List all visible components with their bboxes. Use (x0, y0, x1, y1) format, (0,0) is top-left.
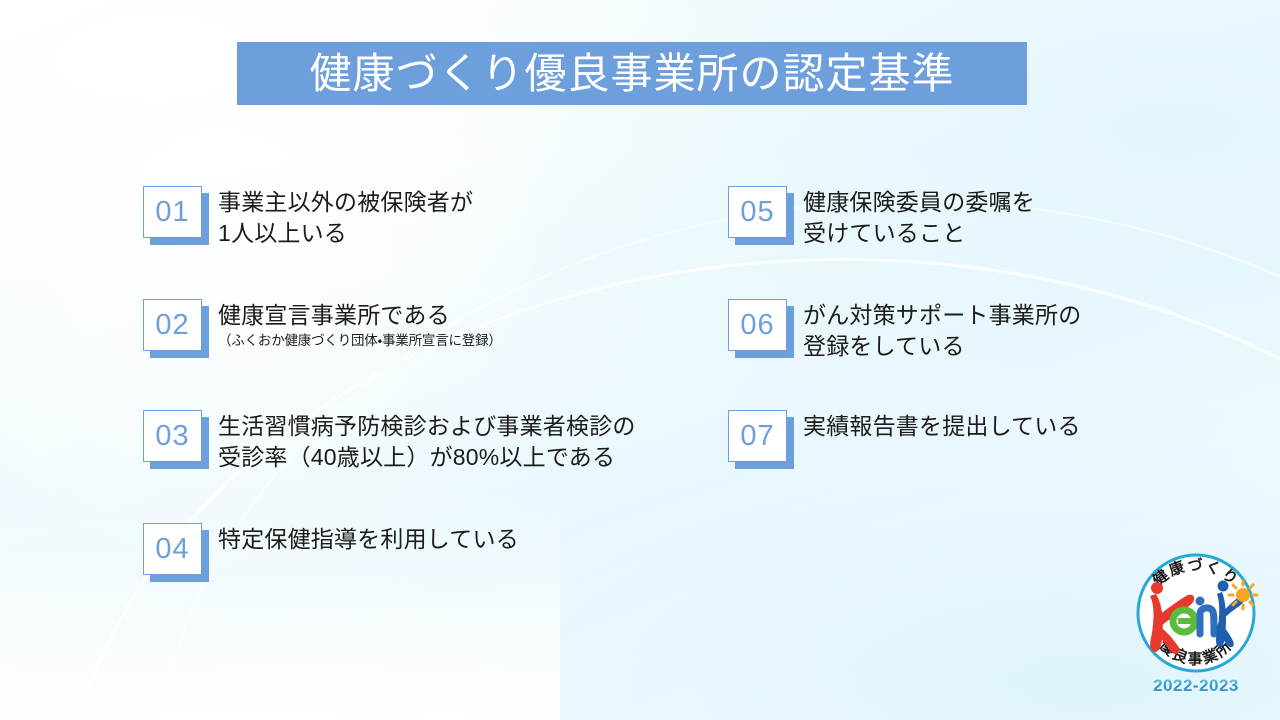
criteria-badge-07: 07 (728, 410, 787, 462)
criteria-item-04: 04 特定保健指導を利用している (143, 523, 519, 575)
logo-letter-n-dot (1196, 597, 1205, 606)
badge-number: 02 (155, 311, 189, 340)
logo-sun-icon (1229, 581, 1257, 609)
criteria-badge-03: 03 (143, 410, 202, 462)
slide-canvas: 健康づくり優良事業所の認定基準 01 事業主以外の被保険者が 1人以上いる (0, 0, 1280, 720)
criteria-body: 生活習慣病予防検診および事業者検診の 受診率（40歳以上）が80%以上である (218, 410, 636, 473)
criteria-text: 健康保険委員の委嘱を 受けていること (803, 187, 1035, 249)
badge-box: 07 (728, 410, 787, 462)
badge-number: 05 (740, 198, 774, 227)
criteria-item-07: 07 実績報告書を提出している (728, 410, 1081, 462)
criteria-badge-04: 04 (143, 523, 202, 575)
badge-number: 03 (155, 422, 189, 451)
criteria-item-05: 05 健康保険委員の委嘱を 受けていること (728, 186, 1035, 249)
logo-emblem-icon: 健康づくり 優良事業所 (1122, 548, 1270, 678)
criteria-item-03: 03 生活習慣病予防検診および事業者検診の 受診率（40歳以上）が80%以上であ… (143, 410, 636, 473)
badge-box: 02 (143, 299, 202, 351)
criteria-body: 健康宣言事業所である （ふくおか健康づくり団体・事業所宣言に登録） (218, 299, 502, 350)
badge-box: 01 (143, 186, 202, 238)
criteria-text: 実績報告書を提出している (803, 411, 1081, 442)
criteria-item-02: 02 健康宣言事業所である （ふくおか健康づくり団体・事業所宣言に登録） (143, 299, 502, 351)
badge-box: 04 (143, 523, 202, 575)
badge-number: 07 (740, 422, 774, 451)
criteria-text: 健康宣言事業所である (218, 300, 502, 331)
criteria-body: 特定保健指導を利用している (218, 523, 519, 555)
criteria-item-01: 01 事業主以外の被保険者が 1人以上いる (143, 186, 473, 249)
criteria-body: 実績報告書を提出している (803, 410, 1081, 442)
criteria-badge-06: 06 (728, 299, 787, 351)
criteria-text: 特定保健指導を利用している (218, 524, 519, 555)
criteria-text: 事業主以外の被保険者が 1人以上いる (218, 187, 473, 249)
criteria-body: がん対策サポート事業所の 登録をしている (803, 299, 1081, 362)
criteria-subtext: （ふくおか健康づくり団体・事業所宣言に登録） (218, 333, 502, 350)
logo-letter-k2-head (1218, 581, 1229, 592)
badge-box: 05 (728, 186, 787, 238)
logo-letter-k-head (1151, 582, 1163, 594)
criteria-item-06: 06 がん対策サポート事業所の 登録をしている (728, 299, 1081, 362)
logo-letter-e-bar (1178, 618, 1192, 624)
criteria-badge-05: 05 (728, 186, 787, 238)
criteria-badge-01: 01 (143, 186, 202, 238)
badge-box: 06 (728, 299, 787, 351)
criteria-badge-02: 02 (143, 299, 202, 351)
criteria-text: がん対策サポート事業所の 登録をしている (803, 300, 1081, 362)
criteria-list: 01 事業主以外の被保険者が 1人以上いる 02 健康宣言事業所である （ふくお… (0, 0, 1280, 720)
badge-box: 03 (143, 410, 202, 462)
logo-year-label: 2022-2023 (1122, 676, 1270, 696)
badge-number: 06 (740, 311, 774, 340)
badge-number: 04 (155, 535, 189, 564)
criteria-body: 事業主以外の被保険者が 1人以上いる (218, 186, 473, 249)
criteria-body: 健康保険委員の委嘱を 受けていること (803, 186, 1035, 249)
kenko-certification-logo: 健康づくり 優良事業所 (1122, 548, 1270, 714)
criteria-text: 生活習慣病予防検診および事業者検診の 受診率（40歳以上）が80%以上である (218, 411, 636, 473)
badge-number: 01 (155, 198, 189, 227)
